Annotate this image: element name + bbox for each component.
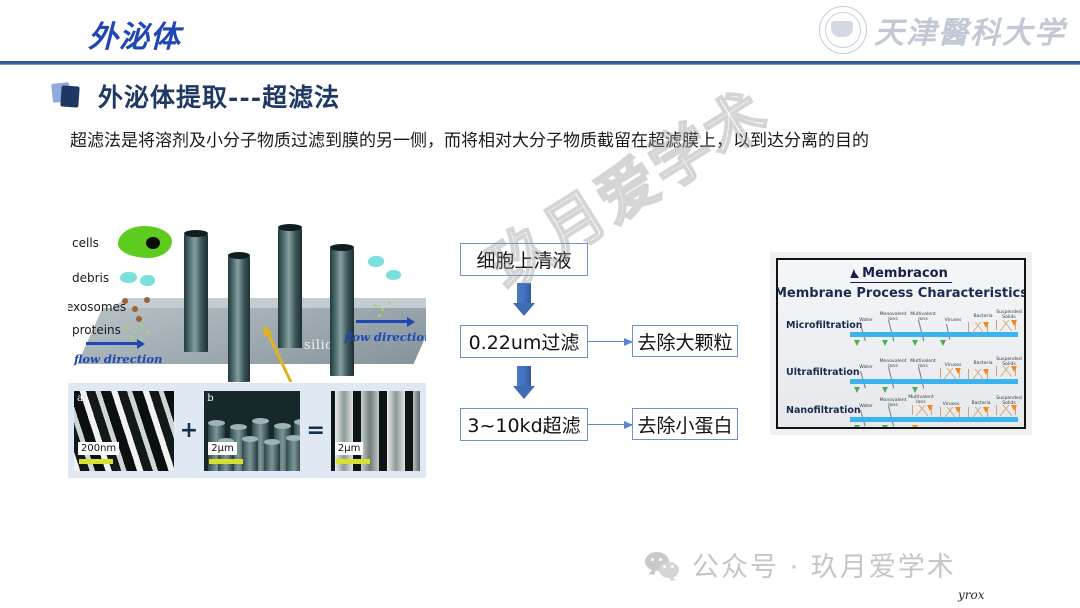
species-label: Bacteria bbox=[966, 401, 996, 406]
sem-scale-bar bbox=[336, 459, 370, 464]
species-label: Water bbox=[851, 365, 881, 370]
university-seal-icon bbox=[819, 6, 867, 54]
nanowire-pillar bbox=[278, 228, 302, 348]
slide-canvas: 外泌体 天津醫科大学 外泌体提取---超滤法 超滤法是将溶剂及小分子物质过滤到膜… bbox=[0, 0, 1080, 608]
body-paragraph: 超滤法是将溶剂及小分子物质过滤到膜的另一侧，而将相对大分子物质截留在超滤膜上，以… bbox=[70, 129, 1060, 155]
membrane-line bbox=[850, 332, 1018, 337]
species-label: Multivalent Ions bbox=[908, 312, 938, 322]
wechat-footer: 公众号 · 玖月爱学术 bbox=[645, 545, 956, 584]
membrane-row-microfiltration: Microfiltration Water Monovalent Ions Mu… bbox=[778, 304, 1024, 351]
wechat-account-text: 公众号 · 玖月爱学术 bbox=[692, 545, 956, 584]
species-label: Water bbox=[851, 404, 881, 409]
species-label: Monovalent Ions bbox=[878, 312, 908, 322]
sem-panel-c: 2μm bbox=[331, 391, 420, 471]
section-heading: 外泌体提取---超滤法 bbox=[52, 78, 340, 114]
sem-panel-b: b 2μm bbox=[204, 391, 300, 471]
cell-nucleus bbox=[146, 237, 160, 249]
cell-blob bbox=[118, 226, 172, 258]
legend-label-debris: debris bbox=[72, 271, 109, 285]
species-label: Suspended Solids bbox=[994, 310, 1024, 320]
plus-operator: + bbox=[180, 418, 198, 443]
flow-step-3-10kd-ultrafiltration[interactable]: 3~10kd超滤 bbox=[460, 408, 588, 441]
flow-output-remove-small-proteins[interactable]: 去除小蛋白 bbox=[632, 408, 738, 440]
nanowire-pillar bbox=[330, 248, 354, 376]
membrane-line bbox=[850, 417, 1018, 422]
section-title: 外泌体提取---超滤法 bbox=[98, 78, 340, 114]
link-arrow-2 bbox=[588, 424, 632, 425]
sem-panel-strip: a 200nm + b 2μm bbox=[68, 383, 426, 478]
flow-arrow-left bbox=[86, 342, 138, 345]
exosome-dot bbox=[144, 297, 150, 303]
sem-panel-tag: a bbox=[77, 393, 83, 404]
debris-blob bbox=[140, 275, 155, 286]
deck-title: 外泌体 bbox=[88, 12, 181, 56]
legend-label-exosomes: exosomes bbox=[68, 300, 126, 314]
sem-scale-bar bbox=[79, 459, 113, 464]
cube-bullet-icon bbox=[52, 81, 82, 111]
row-label: Nanofiltration bbox=[786, 405, 861, 416]
figure-left-schematic: silicon cells debris exosomes proteins bbox=[68, 220, 426, 382]
debris-blob bbox=[386, 270, 401, 280]
university-name: 天津醫科大学 bbox=[874, 8, 1066, 52]
nanowire-capture-figure: silicon cells debris exosomes proteins bbox=[68, 220, 426, 478]
membracon-brand: Membracon bbox=[850, 266, 952, 283]
legend-label-proteins: proteins bbox=[72, 323, 121, 337]
sem-scale-label: 200nm bbox=[78, 442, 119, 455]
species-label: Monovalent Ions bbox=[878, 398, 908, 408]
sem-scale-label: 2μm bbox=[208, 442, 236, 455]
equals-operator: = bbox=[306, 418, 324, 443]
nanowire-pillar bbox=[228, 256, 250, 382]
membrane-chart-title: Membrane Process Characteristics bbox=[776, 286, 1026, 301]
species-label: Multivalent Ions bbox=[906, 395, 936, 405]
species-label: Viruses bbox=[938, 318, 968, 323]
extraction-flowchart: 细胞上清液 0.22um过滤 去除大颗粒 3~10kd超滤 去除小蛋白 bbox=[455, 235, 755, 450]
flow-output-remove-large-particles[interactable]: 去除大颗粒 bbox=[632, 325, 738, 357]
flow-direction-label-right: flow direction bbox=[344, 330, 426, 344]
sem-panel-tag: b bbox=[207, 393, 213, 404]
debris-blob bbox=[368, 256, 384, 267]
flow-step-supernatant[interactable]: 细胞上清液 bbox=[460, 243, 588, 276]
flow-step-022um-filter[interactable]: 0.22um过滤 bbox=[460, 325, 588, 358]
legend-label-cells: cells bbox=[72, 236, 99, 250]
flow-direction-label-left: flow direction bbox=[74, 352, 162, 366]
sem-scale-bar bbox=[209, 459, 243, 464]
membrane-process-figure: Membracon Membrane Process Characteristi… bbox=[770, 252, 1032, 435]
wechat-icon bbox=[645, 552, 679, 578]
species-label: Monovalent Ions bbox=[878, 359, 908, 369]
exosome-dot bbox=[132, 306, 138, 312]
species-label: Multivalent Ions bbox=[908, 359, 938, 369]
link-arrow-1 bbox=[588, 341, 632, 342]
signature-text: yrox bbox=[958, 588, 985, 602]
exosome-dot bbox=[136, 316, 142, 322]
sem-panel-a: a 200nm bbox=[74, 391, 174, 471]
university-logo: 天津醫科大学 bbox=[819, 6, 1066, 54]
nanowire-pillar bbox=[184, 234, 208, 352]
row-label: Ultrafiltration bbox=[786, 367, 860, 378]
flow-arrow-right bbox=[356, 320, 408, 323]
debris-blob bbox=[120, 272, 137, 283]
sem-scale-label: 2μm bbox=[335, 442, 363, 455]
species-label: Water bbox=[851, 318, 881, 323]
membrane-line bbox=[850, 379, 1018, 384]
header-divider bbox=[0, 61, 1080, 65]
membrane-row-nanofiltration: Nanofiltration Water Monovalent Ions Mul… bbox=[778, 389, 1024, 429]
